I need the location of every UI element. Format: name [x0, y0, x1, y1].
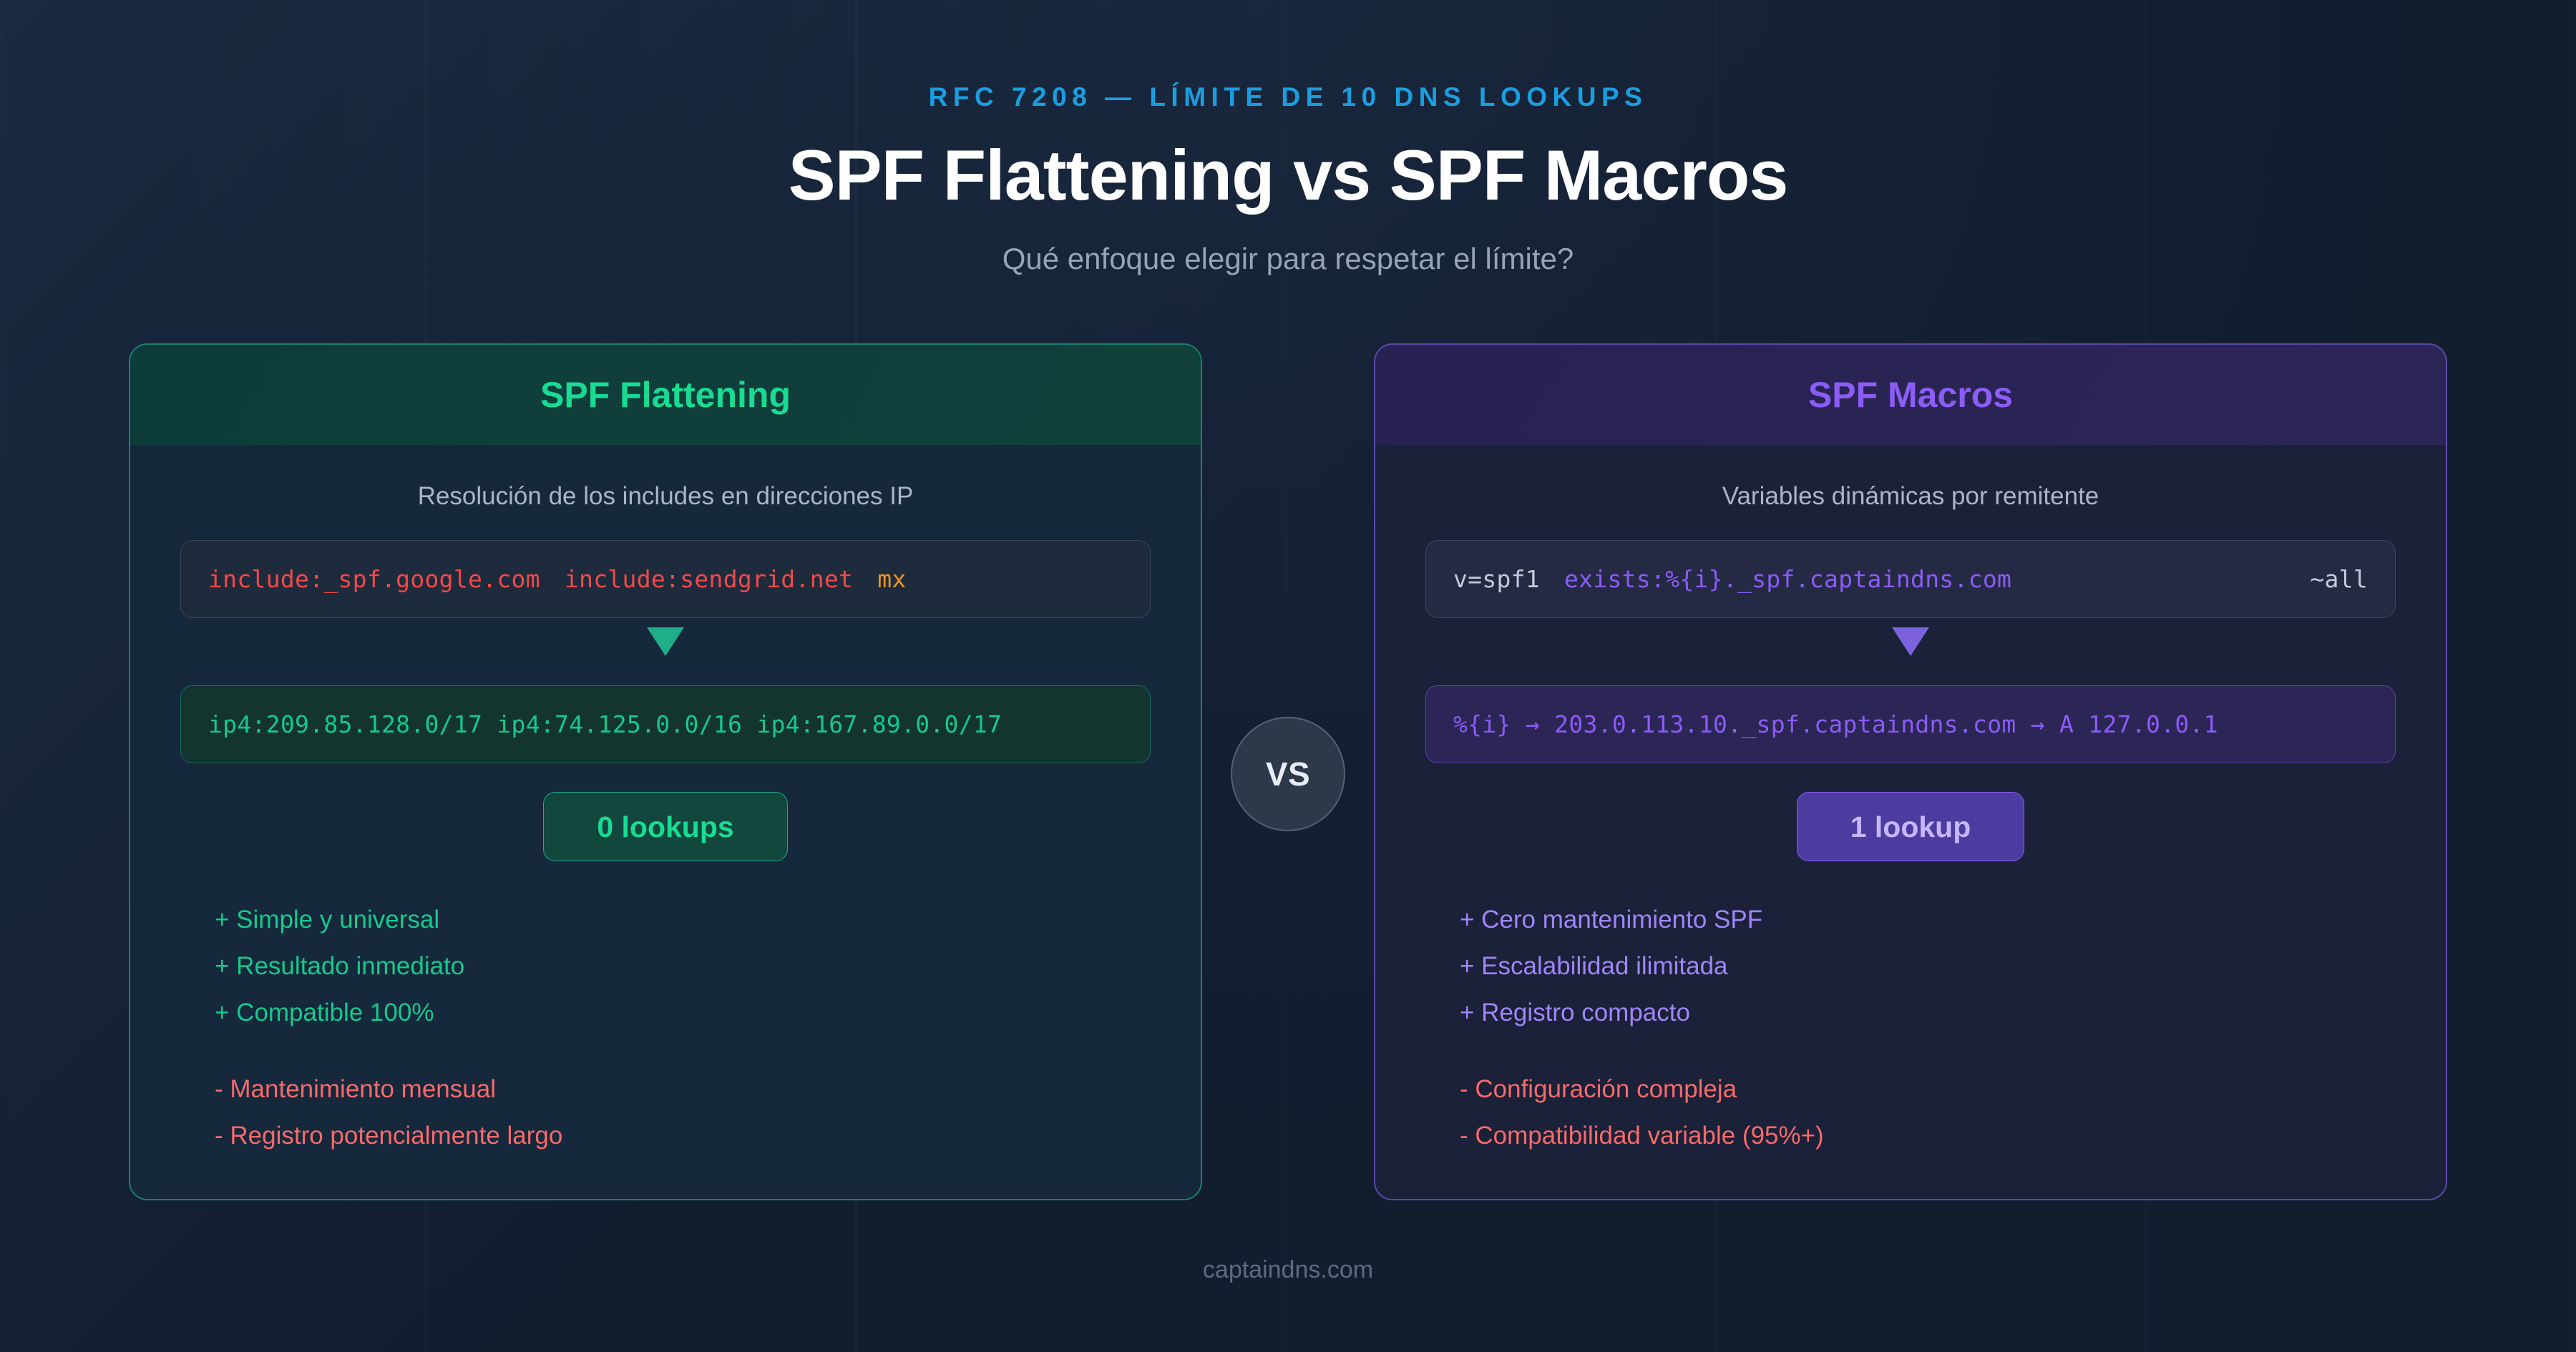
- card-spf-flattening: SPF Flattening Resolución de los include…: [129, 343, 1202, 1200]
- code-block-before-flattening: include:_spf.google.com include:sendgrid…: [180, 540, 1151, 618]
- pro-item: + Compatible 100%: [215, 1000, 1201, 1025]
- pro-item: + Registro compacto: [1460, 1000, 2446, 1025]
- card-description-macros: Variables dinámicas por remitente: [1375, 482, 2446, 511]
- points-list-flattening: + Simple y universal + Resultado inmedia…: [215, 907, 1201, 1148]
- infographic-canvas: RFC 7208 — LÍMITE DE 10 DNS LOOKUPS SPF …: [0, 0, 2576, 1352]
- pro-item: + Escalabilidad ilimitada: [1460, 954, 2446, 979]
- card-spf-macros: SPF Macros Variables dinámicas por remit…: [1374, 343, 2447, 1200]
- card-title-macros: SPF Macros: [1808, 374, 2013, 416]
- con-item: - Registro potencialmente largo: [215, 1123, 1201, 1148]
- con-item: - Compatibilidad variable (95%+): [1460, 1123, 2446, 1148]
- code-token-mx: mx: [877, 565, 906, 593]
- code-token-include-sendgrid: include:sendgrid.net: [565, 565, 853, 593]
- down-arrow-icon: [1892, 627, 1929, 656]
- vs-badge: VS: [1231, 717, 1345, 831]
- code-token-softfail-all: ~all: [2310, 565, 2368, 593]
- points-list-macros: + Cero mantenimiento SPF + Escalabilidad…: [1460, 907, 2446, 1148]
- status-badge-lookups-flattening: 0 lookups: [543, 792, 787, 861]
- page-subtitle: Qué enfoque elegir para respetar el lími…: [0, 242, 2576, 276]
- page-title: SPF Flattening vs SPF Macros: [0, 134, 2576, 216]
- status-badge-lookups-macros: 1 lookup: [1797, 792, 2025, 861]
- code-block-after-flattening: ip4:209.85.128.0/17 ip4:74.125.0.0/16 ip…: [180, 685, 1151, 763]
- card-header-macros: SPF Macros: [1375, 345, 2446, 445]
- lookup-badge-wrap-macros: 1 lookup: [1375, 792, 2446, 861]
- card-header-flattening: SPF Flattening: [130, 345, 1201, 445]
- card-description-flattening: Resolución de los includes en direccione…: [130, 482, 1201, 511]
- pro-item: + Resultado inmediato: [215, 954, 1201, 979]
- code-token-ip4-list: ip4:209.85.128.0/17 ip4:74.125.0.0/16 ip…: [208, 710, 1002, 738]
- code-token-include-google: include:_spf.google.com: [208, 565, 540, 593]
- down-arrow-icon: [647, 627, 684, 656]
- pro-item: + Simple y universal: [215, 907, 1201, 932]
- card-title-flattening: SPF Flattening: [540, 374, 791, 416]
- footer-brand: captaindns.com: [0, 1256, 2576, 1284]
- code-block-after-macros: %{i} → 203.0.113.10._spf.captaindns.com …: [1425, 685, 2396, 763]
- code-token-v-spf1: v=spf1: [1453, 565, 1540, 593]
- code-token-macro-expansion: %{i} → 203.0.113.10._spf.captaindns.com …: [1453, 710, 2218, 738]
- lookup-badge-wrap-flattening: 0 lookups: [130, 792, 1201, 861]
- code-token-exists: exists:%{i}._spf.captaindns.com: [1564, 565, 2011, 593]
- pro-item: + Cero mantenimiento SPF: [1460, 907, 2446, 932]
- con-item: - Configuración compleja: [1460, 1077, 2446, 1102]
- header-eyebrow: RFC 7208 — LÍMITE DE 10 DNS LOOKUPS: [0, 82, 2576, 112]
- con-item: - Mantenimiento mensual: [215, 1077, 1201, 1102]
- code-block-before-macros: v=spf1 exists:%{i}._spf.captaindns.com ~…: [1425, 540, 2396, 618]
